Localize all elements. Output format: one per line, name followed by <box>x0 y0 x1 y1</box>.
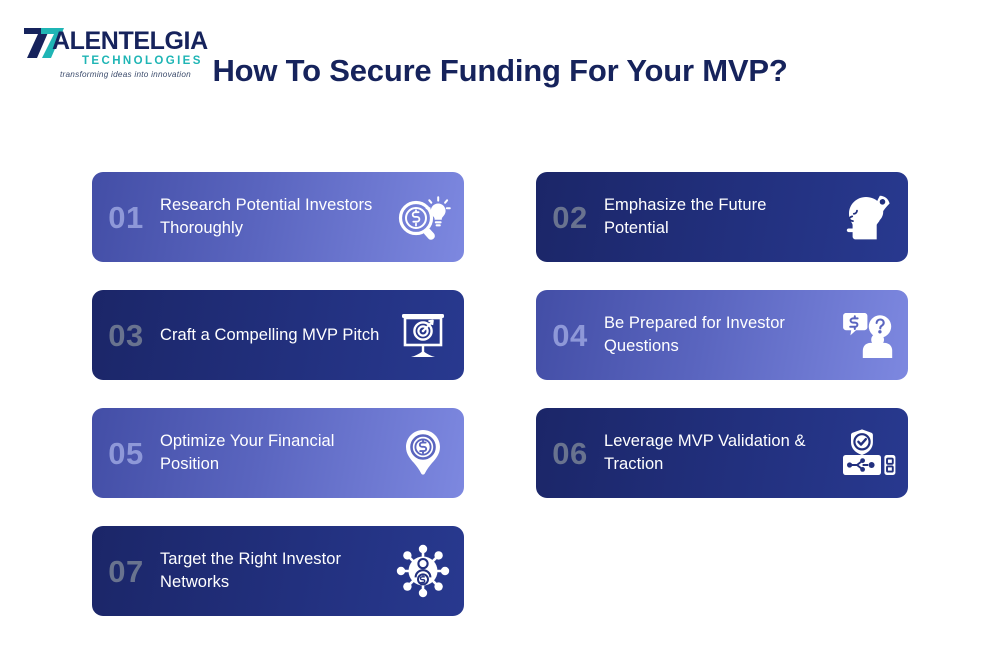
step-title: Target the Right Investor Networks <box>160 548 388 594</box>
step-card-04[interactable]: 04 Be Prepared for Investor Questions <box>536 290 908 380</box>
step-card-05[interactable]: 05 Optimize Your Financial Position <box>92 408 464 498</box>
step-number: 04 <box>536 316 604 354</box>
infographic-page: ALENTELGIA TECHNOLOGIES transforming ide… <box>0 0 1000 657</box>
step-number: 07 <box>92 552 160 590</box>
step-card-01[interactable]: 01 Research Potential Investors Thorough… <box>92 172 464 262</box>
step-number: 06 <box>536 434 604 472</box>
steps-column-right: 02 Emphasize the Future Potential <box>536 172 908 526</box>
brand-wordmark: ALENTELGIA <box>52 27 208 55</box>
magnifier-dollar-lightbulb-icon <box>388 185 458 249</box>
lightbulb-dollar-icon <box>388 421 458 485</box>
step-title: Leverage MVP Validation & Traction <box>604 430 832 476</box>
step-title: Be Prepared for Investor Questions <box>604 312 832 358</box>
step-title: Optimize Your Financial Position <box>160 430 388 476</box>
brand-subtitle: TECHNOLOGIES <box>82 55 203 68</box>
presentation-target-icon <box>388 303 458 367</box>
step-card-06[interactable]: 06 Leverage MVP Validation & Traction <box>536 408 908 498</box>
step-card-07[interactable]: 07 Target the Right Investor Networks <box>92 526 464 616</box>
person-dollar-question-bubbles-icon <box>832 303 902 367</box>
network-investor-moneybag-icon <box>388 539 458 603</box>
step-title: Research Potential Investors Thoroughly <box>160 194 388 240</box>
step-number: 05 <box>92 434 160 472</box>
steps-column-left: 01 Research Potential Investors Thorough… <box>92 172 464 644</box>
step-card-02[interactable]: 02 Emphasize the Future Potential <box>536 172 908 262</box>
head-rocket-icon <box>832 185 902 249</box>
step-number: 01 <box>92 198 160 236</box>
step-card-03[interactable]: 03 Craft a Compelling MVP Pitch <box>92 290 464 380</box>
page-title: How To Secure Funding For Your MVP? <box>200 50 800 92</box>
step-title: Craft a Compelling MVP Pitch <box>160 324 388 347</box>
step-number: 03 <box>92 316 160 354</box>
brand-tagline: transforming ideas into innovation <box>60 70 191 80</box>
step-number: 02 <box>536 198 604 236</box>
brand-logo: ALENTELGIA TECHNOLOGIES transforming ide… <box>18 26 193 84</box>
step-title: Emphasize the Future Potential <box>604 194 832 240</box>
shield-check-network-icon <box>832 421 902 485</box>
